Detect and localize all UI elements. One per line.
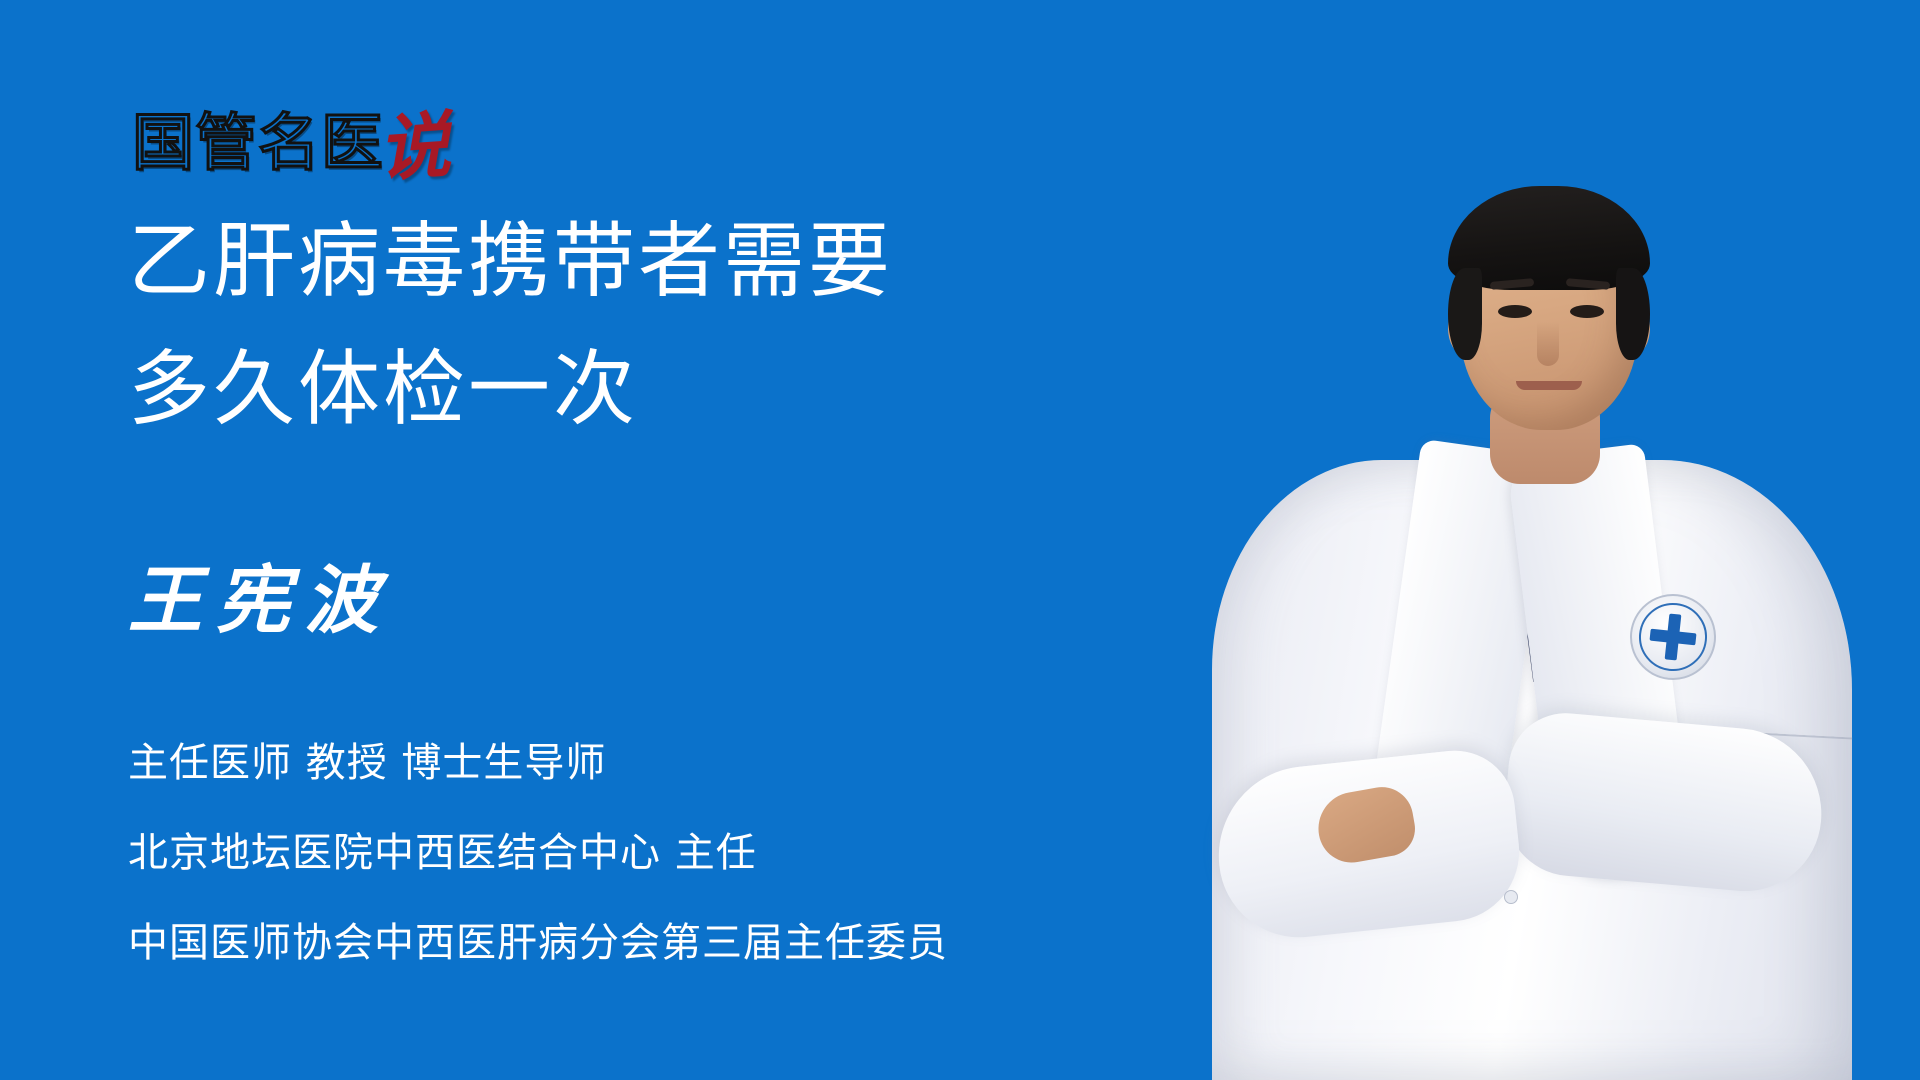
doctor-credential-line: 主任医师 教授 博士生导师 bbox=[128, 718, 1168, 808]
slide-title-line-2: 多久体检一次 bbox=[128, 326, 1128, 454]
hair-side-right bbox=[1616, 268, 1650, 360]
doctor-credential-line: 中国医师协会中西医肝病分会第三届主任委员 bbox=[128, 898, 1168, 988]
brand-logo: 国管名医 说 bbox=[132, 98, 450, 174]
coat-button bbox=[1504, 890, 1518, 904]
doctor-name: 王宪波 bbox=[128, 558, 392, 644]
slide-title: 乙肝病毒携带者需要 多久体检一次 bbox=[128, 198, 1128, 454]
brand-logo-accent-text: 说 bbox=[376, 114, 452, 181]
doctor-credentials: 主任医师 教授 博士生导师 北京地坛医院中西医结合中心 主任 中国医师协会中西医… bbox=[128, 718, 1168, 988]
mouth bbox=[1516, 381, 1582, 390]
video-thumbnail-slide: 国管名医 说 乙肝病毒携带者需要 多久体检一次 王宪波 主任医师 教授 博士生导… bbox=[0, 0, 1920, 1080]
nose bbox=[1537, 322, 1559, 366]
doctor-credential-line: 北京地坛医院中西医结合中心 主任 bbox=[128, 808, 1168, 898]
slide-title-line-1: 乙肝病毒携带者需要 bbox=[128, 198, 1128, 326]
brand-logo-main-text: 国管名医 bbox=[132, 112, 384, 174]
eye-right bbox=[1570, 305, 1604, 318]
doctor-portrait bbox=[1160, 0, 1920, 1080]
hair-side-left bbox=[1448, 268, 1482, 360]
eye-left bbox=[1498, 305, 1532, 318]
